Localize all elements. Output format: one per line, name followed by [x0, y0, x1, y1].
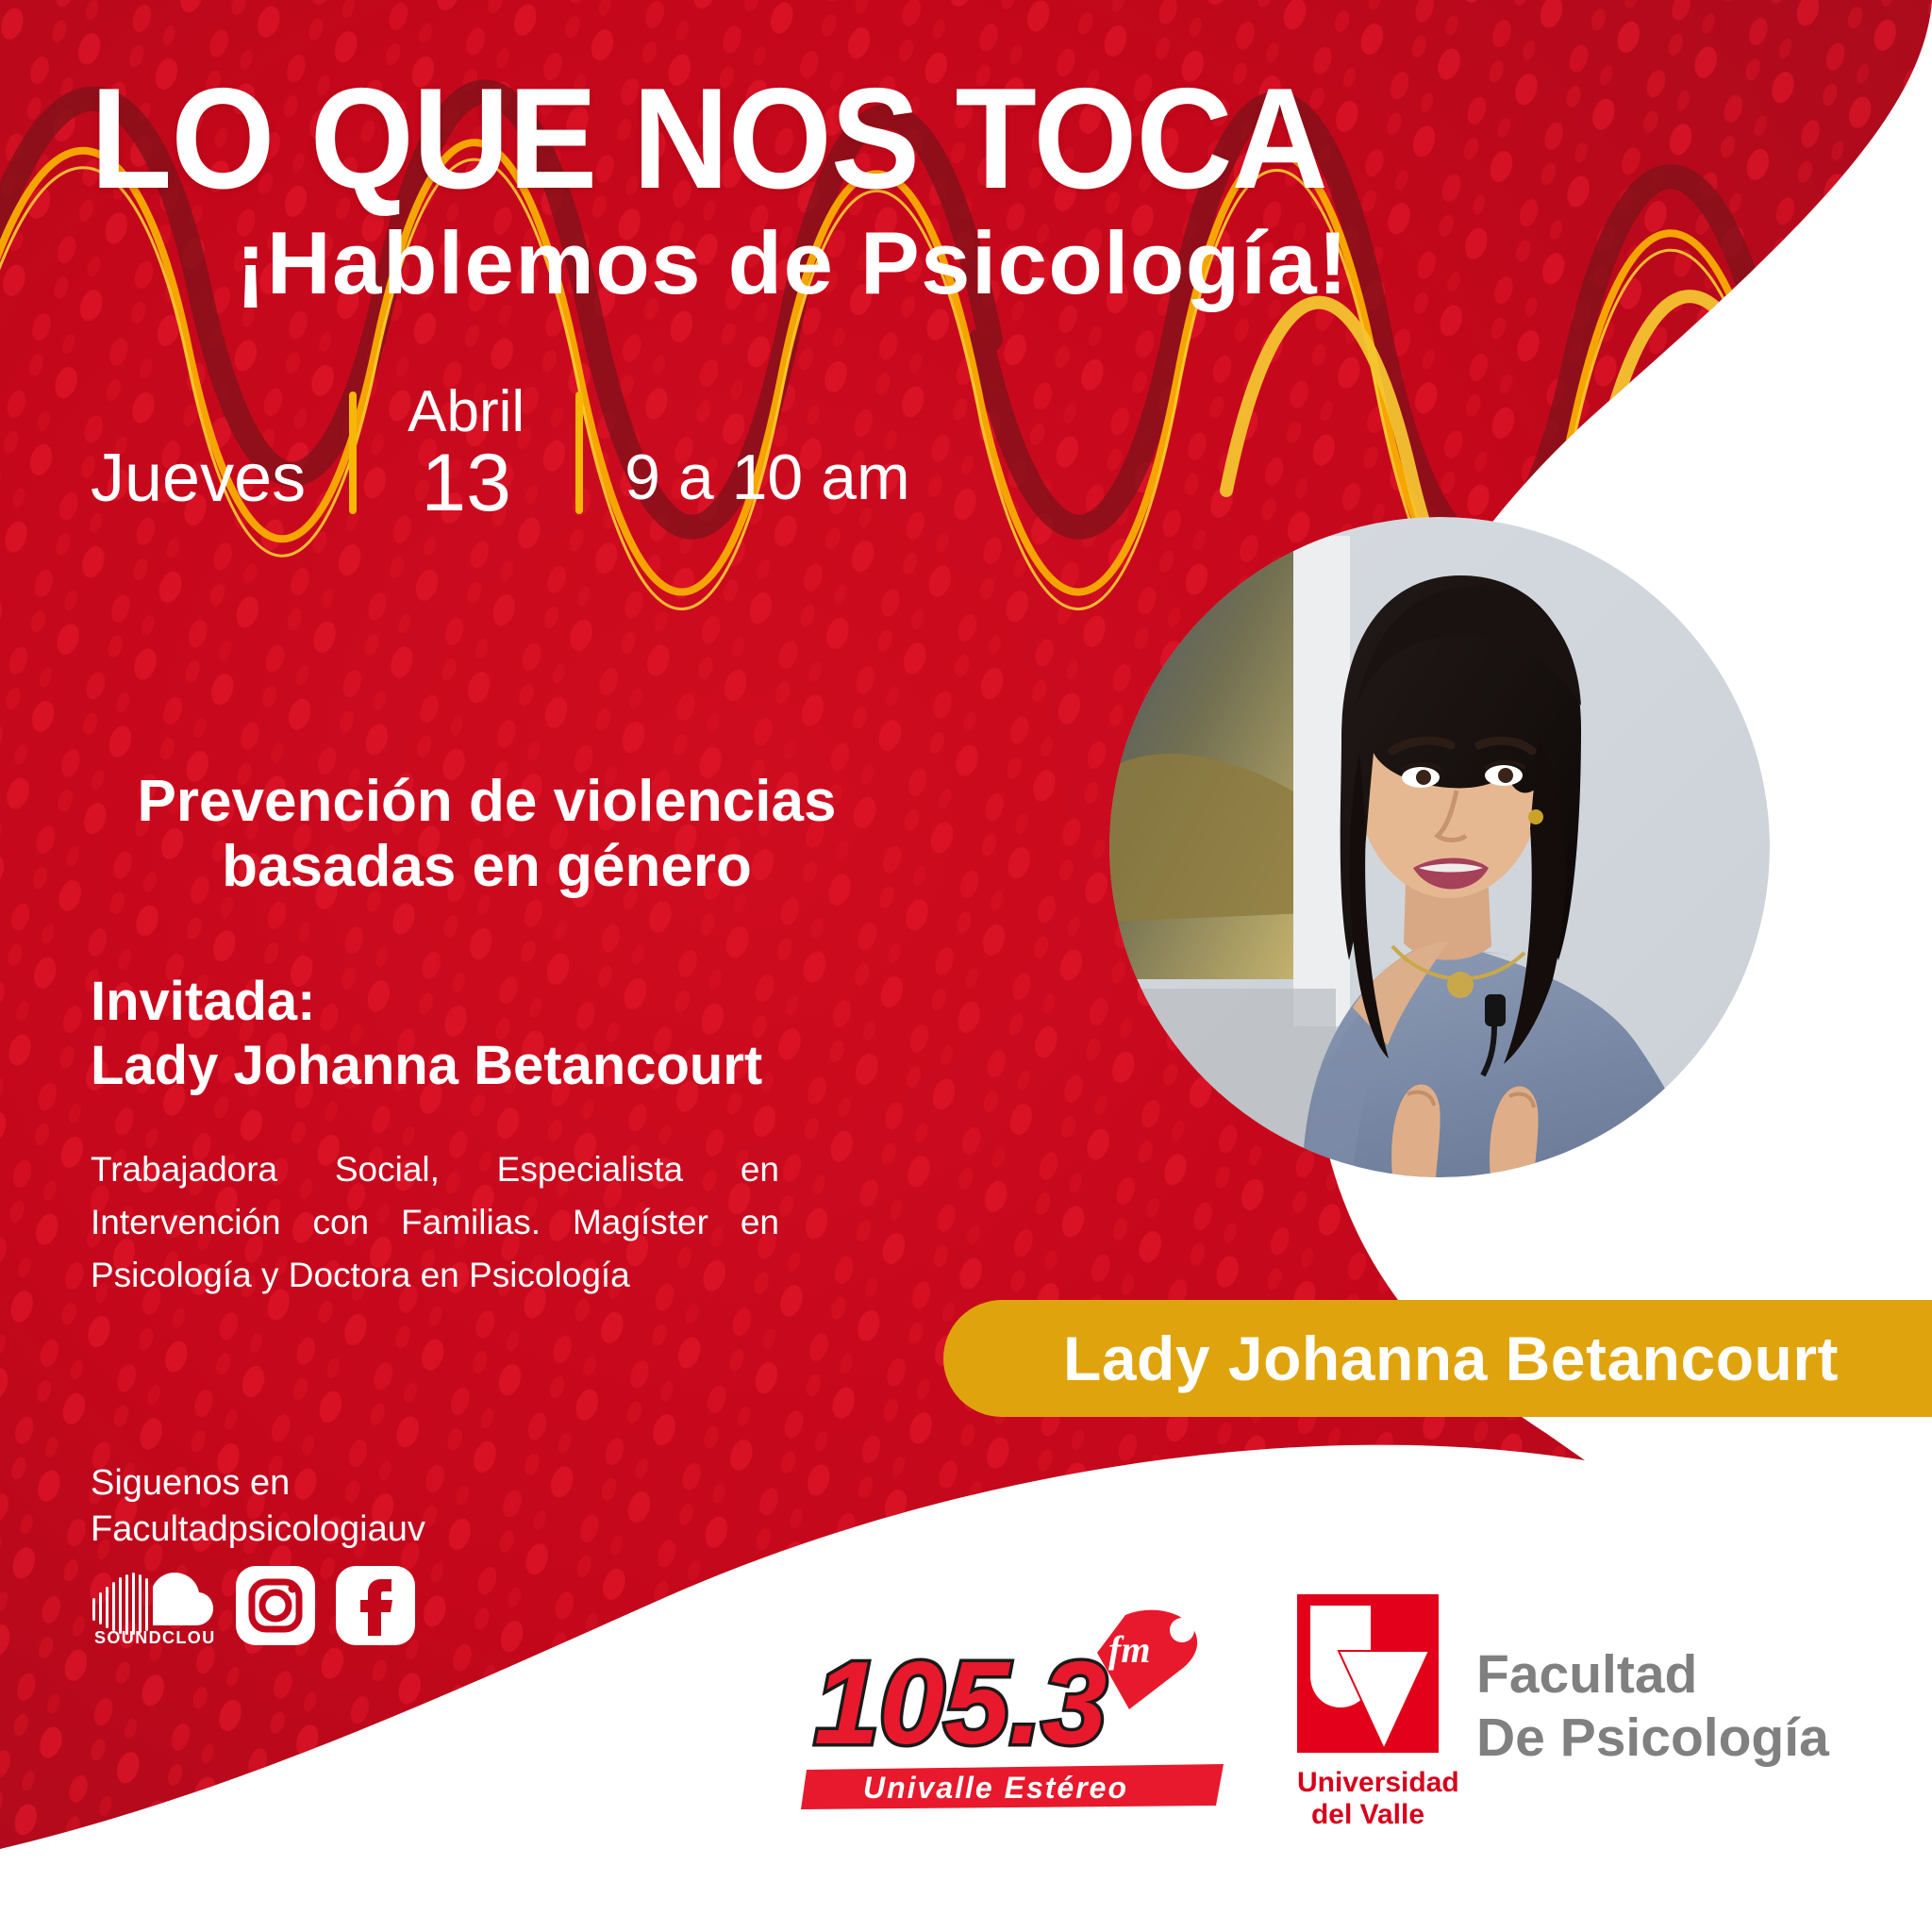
- university-name: Universidad del Valle: [1297, 1767, 1439, 1830]
- topic-line-1: Prevención de violencias: [91, 769, 883, 834]
- schedule-time: 9 a 10 am: [589, 396, 909, 509]
- schedule-divider-2: [575, 391, 583, 514]
- radio-frequency: 105.3: [814, 1639, 1107, 1769]
- follow-line-2: Facultadpsicologiauv: [91, 1507, 425, 1553]
- guest-photo: [1109, 517, 1770, 1177]
- guest-bio: Trabajadora Social, Especialista en Inte…: [91, 1143, 779, 1303]
- schedule-date-number: 13: [362, 442, 570, 524]
- schedule-month: Abril: [362, 382, 570, 441]
- soundcloud-icon[interactable]: SOUNDCLOUD: [91, 1566, 215, 1645]
- schedule-day-cell: Jueves: [91, 393, 343, 512]
- radio-tagline: Univalle Estéreo: [863, 1771, 1128, 1805]
- schedule-row: Jueves Abril 13 9 a 10 am: [91, 377, 910, 528]
- faculty-line-1: Facultad: [1476, 1643, 1829, 1707]
- schedule-time-cell: 9 a 10 am: [589, 396, 909, 509]
- poster-root: LO QUE NOS TOCA ¡Hablemos de Psicología!…: [0, 0, 1932, 1932]
- schedule-divider-1: [349, 391, 357, 514]
- follow-text: Siguenos en Facultadpsicologiauv: [91, 1460, 425, 1552]
- topic-line-2: basadas en género: [91, 834, 883, 899]
- university-logo: Universidad del Valle Facultad De Psicol…: [1297, 1594, 1829, 1830]
- instagram-icon[interactable]: [236, 1566, 315, 1645]
- guest-portrait-illustration: [1109, 517, 1770, 1177]
- soundcloud-label: SOUNDCLOUD: [94, 1628, 215, 1645]
- topic-heading: Prevención de violencias basadas en géne…: [91, 769, 883, 900]
- faculty-line-2: De Psicología: [1476, 1707, 1829, 1770]
- faculty-name: Facultad De Psicología: [1476, 1594, 1829, 1771]
- social-icons-row: SOUNDCLOUD: [91, 1566, 415, 1645]
- guest-name: Lady Johanna Betancourt: [91, 1038, 762, 1095]
- radio-band-label: fm: [1108, 1628, 1150, 1671]
- schedule-date-cell: Abril 13: [362, 382, 570, 523]
- univalle-mark: Universidad del Valle: [1297, 1594, 1439, 1830]
- page-title: LO QUE NOS TOCA: [91, 74, 1231, 206]
- follow-line-1: Siguenos en: [91, 1460, 425, 1507]
- guest-name-banner: Lady Johanna Betancourt: [943, 1300, 1932, 1417]
- schedule-day: Jueves: [91, 393, 343, 512]
- univalle-uv-glyph: [1297, 1594, 1439, 1755]
- facebook-icon[interactable]: [336, 1566, 415, 1645]
- guest-name-banner-label: Lady Johanna Betancourt: [1063, 1323, 1839, 1394]
- guest-label: Invitada:: [91, 974, 316, 1031]
- page-subtitle: ¡Hablemos de Psicología!: [236, 219, 1557, 308]
- radio-station-logo: fm 105.3 Univalle Estéreo: [797, 1604, 1231, 1821]
